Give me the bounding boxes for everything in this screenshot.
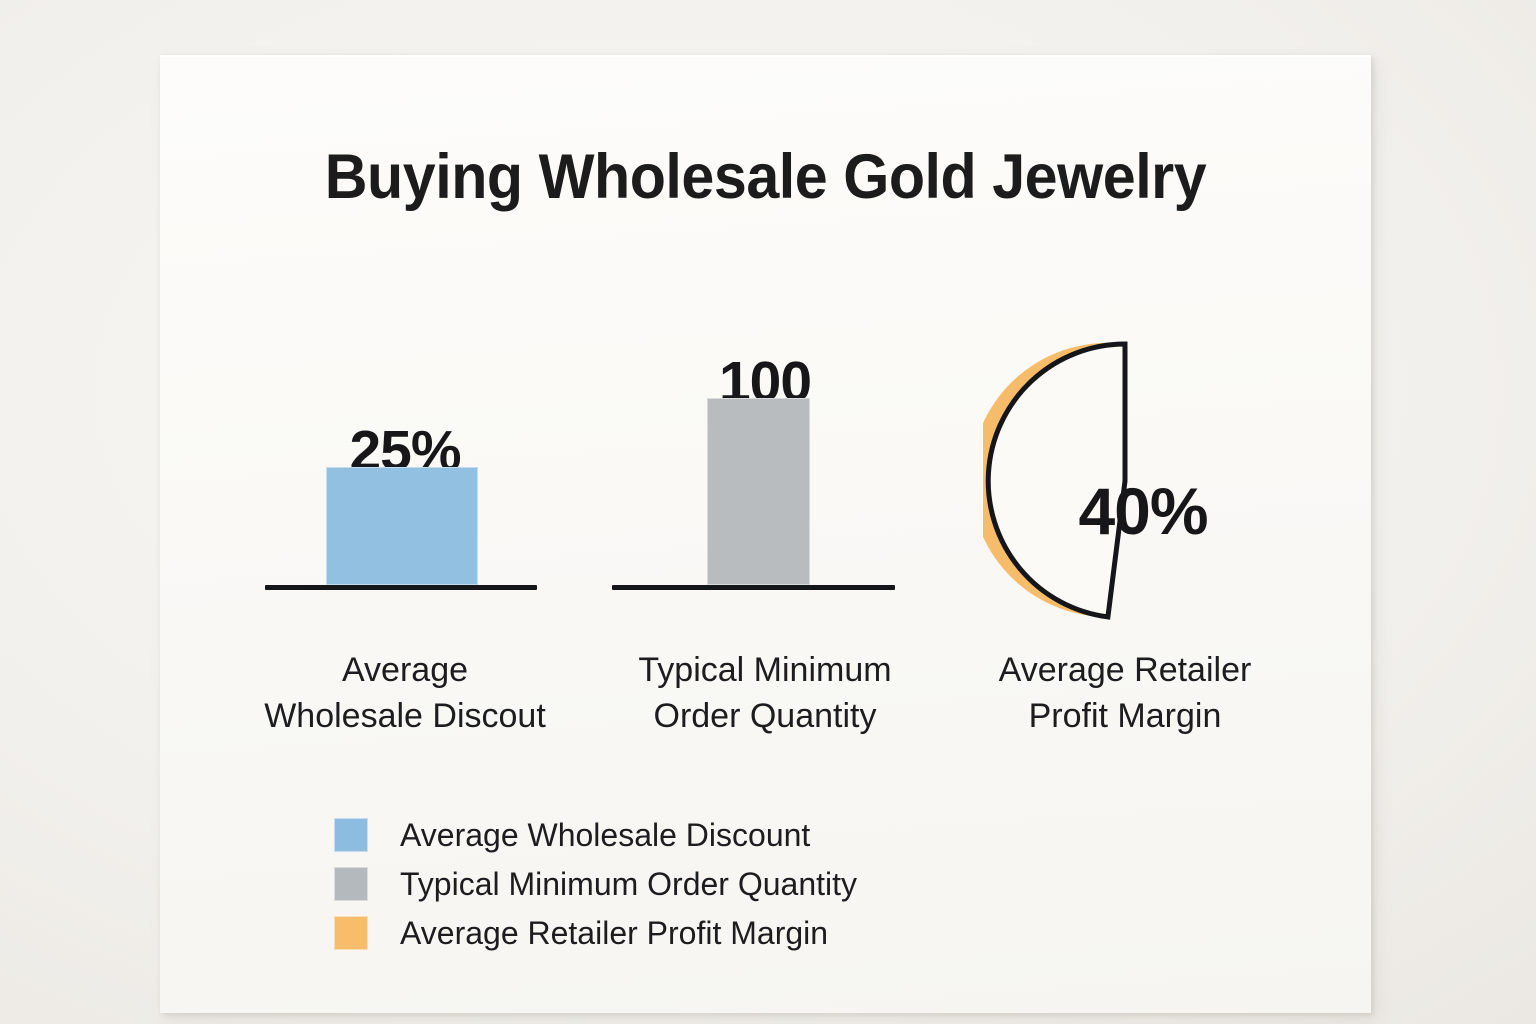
bar-typical-minimum-order-quantity	[707, 398, 810, 585]
caption-line-2: Order Quantity	[585, 693, 945, 739]
metric-panel-typical-minimum-order-quantity: 100 Typical Minimum Order Quantity	[585, 325, 945, 825]
pie-chart-orange: 40%	[945, 325, 1305, 615]
legend-label: Typical Minimum Order Quantity	[400, 867, 857, 901]
metric-caption: Typical Minimum Order Quantity	[585, 647, 945, 739]
caption-line-1: Average	[225, 647, 585, 693]
bar-chart-blue	[225, 325, 585, 615]
axis-baseline	[265, 585, 537, 590]
axis-baseline	[612, 585, 895, 590]
legend-item-average-wholesale-discount[interactable]: Average Wholesale Discount	[334, 810, 857, 859]
bar-average-wholesale-discount	[326, 467, 478, 585]
legend-label: Average Wholesale Discount	[400, 818, 810, 852]
caption-line-1: Average Retailer	[945, 647, 1305, 693]
metric-panel-average-retailer-profit-margin: 40% Average Retailer Profit Margin	[945, 325, 1305, 825]
legend-item-typical-minimum-order-quantity[interactable]: Typical Minimum Order Quantity	[334, 859, 857, 908]
legend-item-average-retailer-profit-margin[interactable]: Average Retailer Profit Margin	[334, 908, 857, 957]
bar-chart-gray	[585, 325, 945, 615]
paper-card: Buying Wholesale Gold Jewelry 25% Averag…	[160, 55, 1371, 1013]
metric-caption: Average Wholesale Discout	[225, 647, 585, 739]
page-title: Buying Wholesale Gold Jewelry	[196, 141, 1334, 213]
legend-swatch-gray	[334, 867, 368, 901]
pie-chart-svg: 40%	[983, 339, 1267, 623]
chart-legend: Average Wholesale Discount Typical Minim…	[334, 810, 857, 957]
legend-swatch-orange	[334, 916, 368, 950]
metric-caption: Average Retailer Profit Margin	[945, 647, 1305, 739]
legend-label: Average Retailer Profit Margin	[400, 916, 828, 950]
legend-swatch-blue	[334, 818, 368, 852]
caption-line-2: Wholesale Discout	[225, 693, 585, 739]
caption-line-2: Profit Margin	[945, 693, 1305, 739]
metric-panel-average-wholesale-discount: 25% Average Wholesale Discout	[225, 325, 585, 825]
infographic-canvas: Buying Wholesale Gold Jewelry 25% Averag…	[0, 0, 1536, 1024]
caption-line-1: Typical Minimum	[585, 647, 945, 693]
pie-value-label: 40%	[1078, 474, 1207, 548]
